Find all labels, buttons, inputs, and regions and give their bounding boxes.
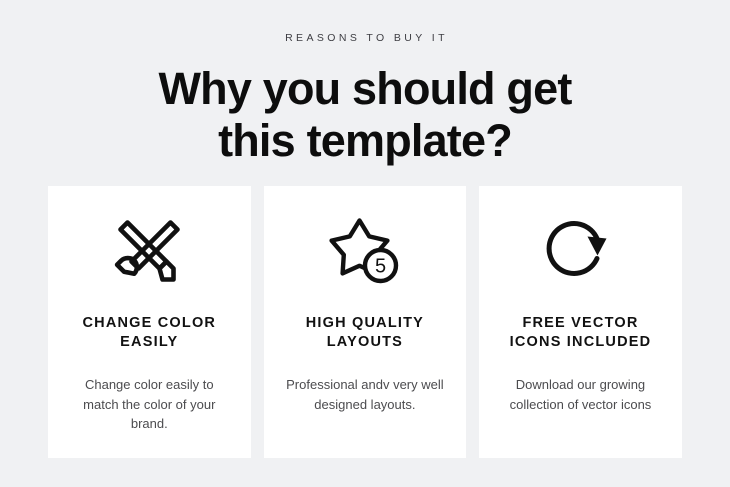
feature-card-title: CHANGE COLOR EASILY — [64, 314, 235, 352]
feature-card[interactable]: CHANGE COLOR EASILY Change color easily … — [48, 186, 251, 458]
refresh-rotate-arrow-icon — [544, 216, 616, 286]
star-badge-number: 5 — [375, 256, 386, 278]
feature-card-body: Change color easily to match the color o… — [69, 352, 229, 434]
pencil-brush-cross-icon — [113, 216, 185, 286]
section-header: REASONS TO BUY IT Why you should get thi… — [0, 0, 730, 167]
feature-card[interactable]: 5 HIGH QUALITY LAYOUTS Professional andv… — [264, 186, 467, 458]
feature-card-body: Download our growing collection of vecto… — [500, 352, 660, 414]
feature-card-title: HIGH QUALITY LAYOUTS — [280, 314, 451, 352]
feature-card-title: FREE VECTOR ICONS INCLUDED — [495, 314, 666, 352]
feature-card-body: Professional andv very well designed lay… — [285, 352, 445, 414]
page-title: Why you should get this template? — [130, 44, 600, 167]
feature-section: REASONS TO BUY IT Why you should get thi… — [0, 0, 730, 487]
section-eyebrow: REASONS TO BUY IT — [0, 33, 730, 44]
feature-card-list: CHANGE COLOR EASILY Change color easily … — [48, 186, 682, 458]
star-rating-five-icon: 5 — [329, 216, 401, 286]
feature-card[interactable]: FREE VECTOR ICONS INCLUDED Download our … — [479, 186, 682, 458]
